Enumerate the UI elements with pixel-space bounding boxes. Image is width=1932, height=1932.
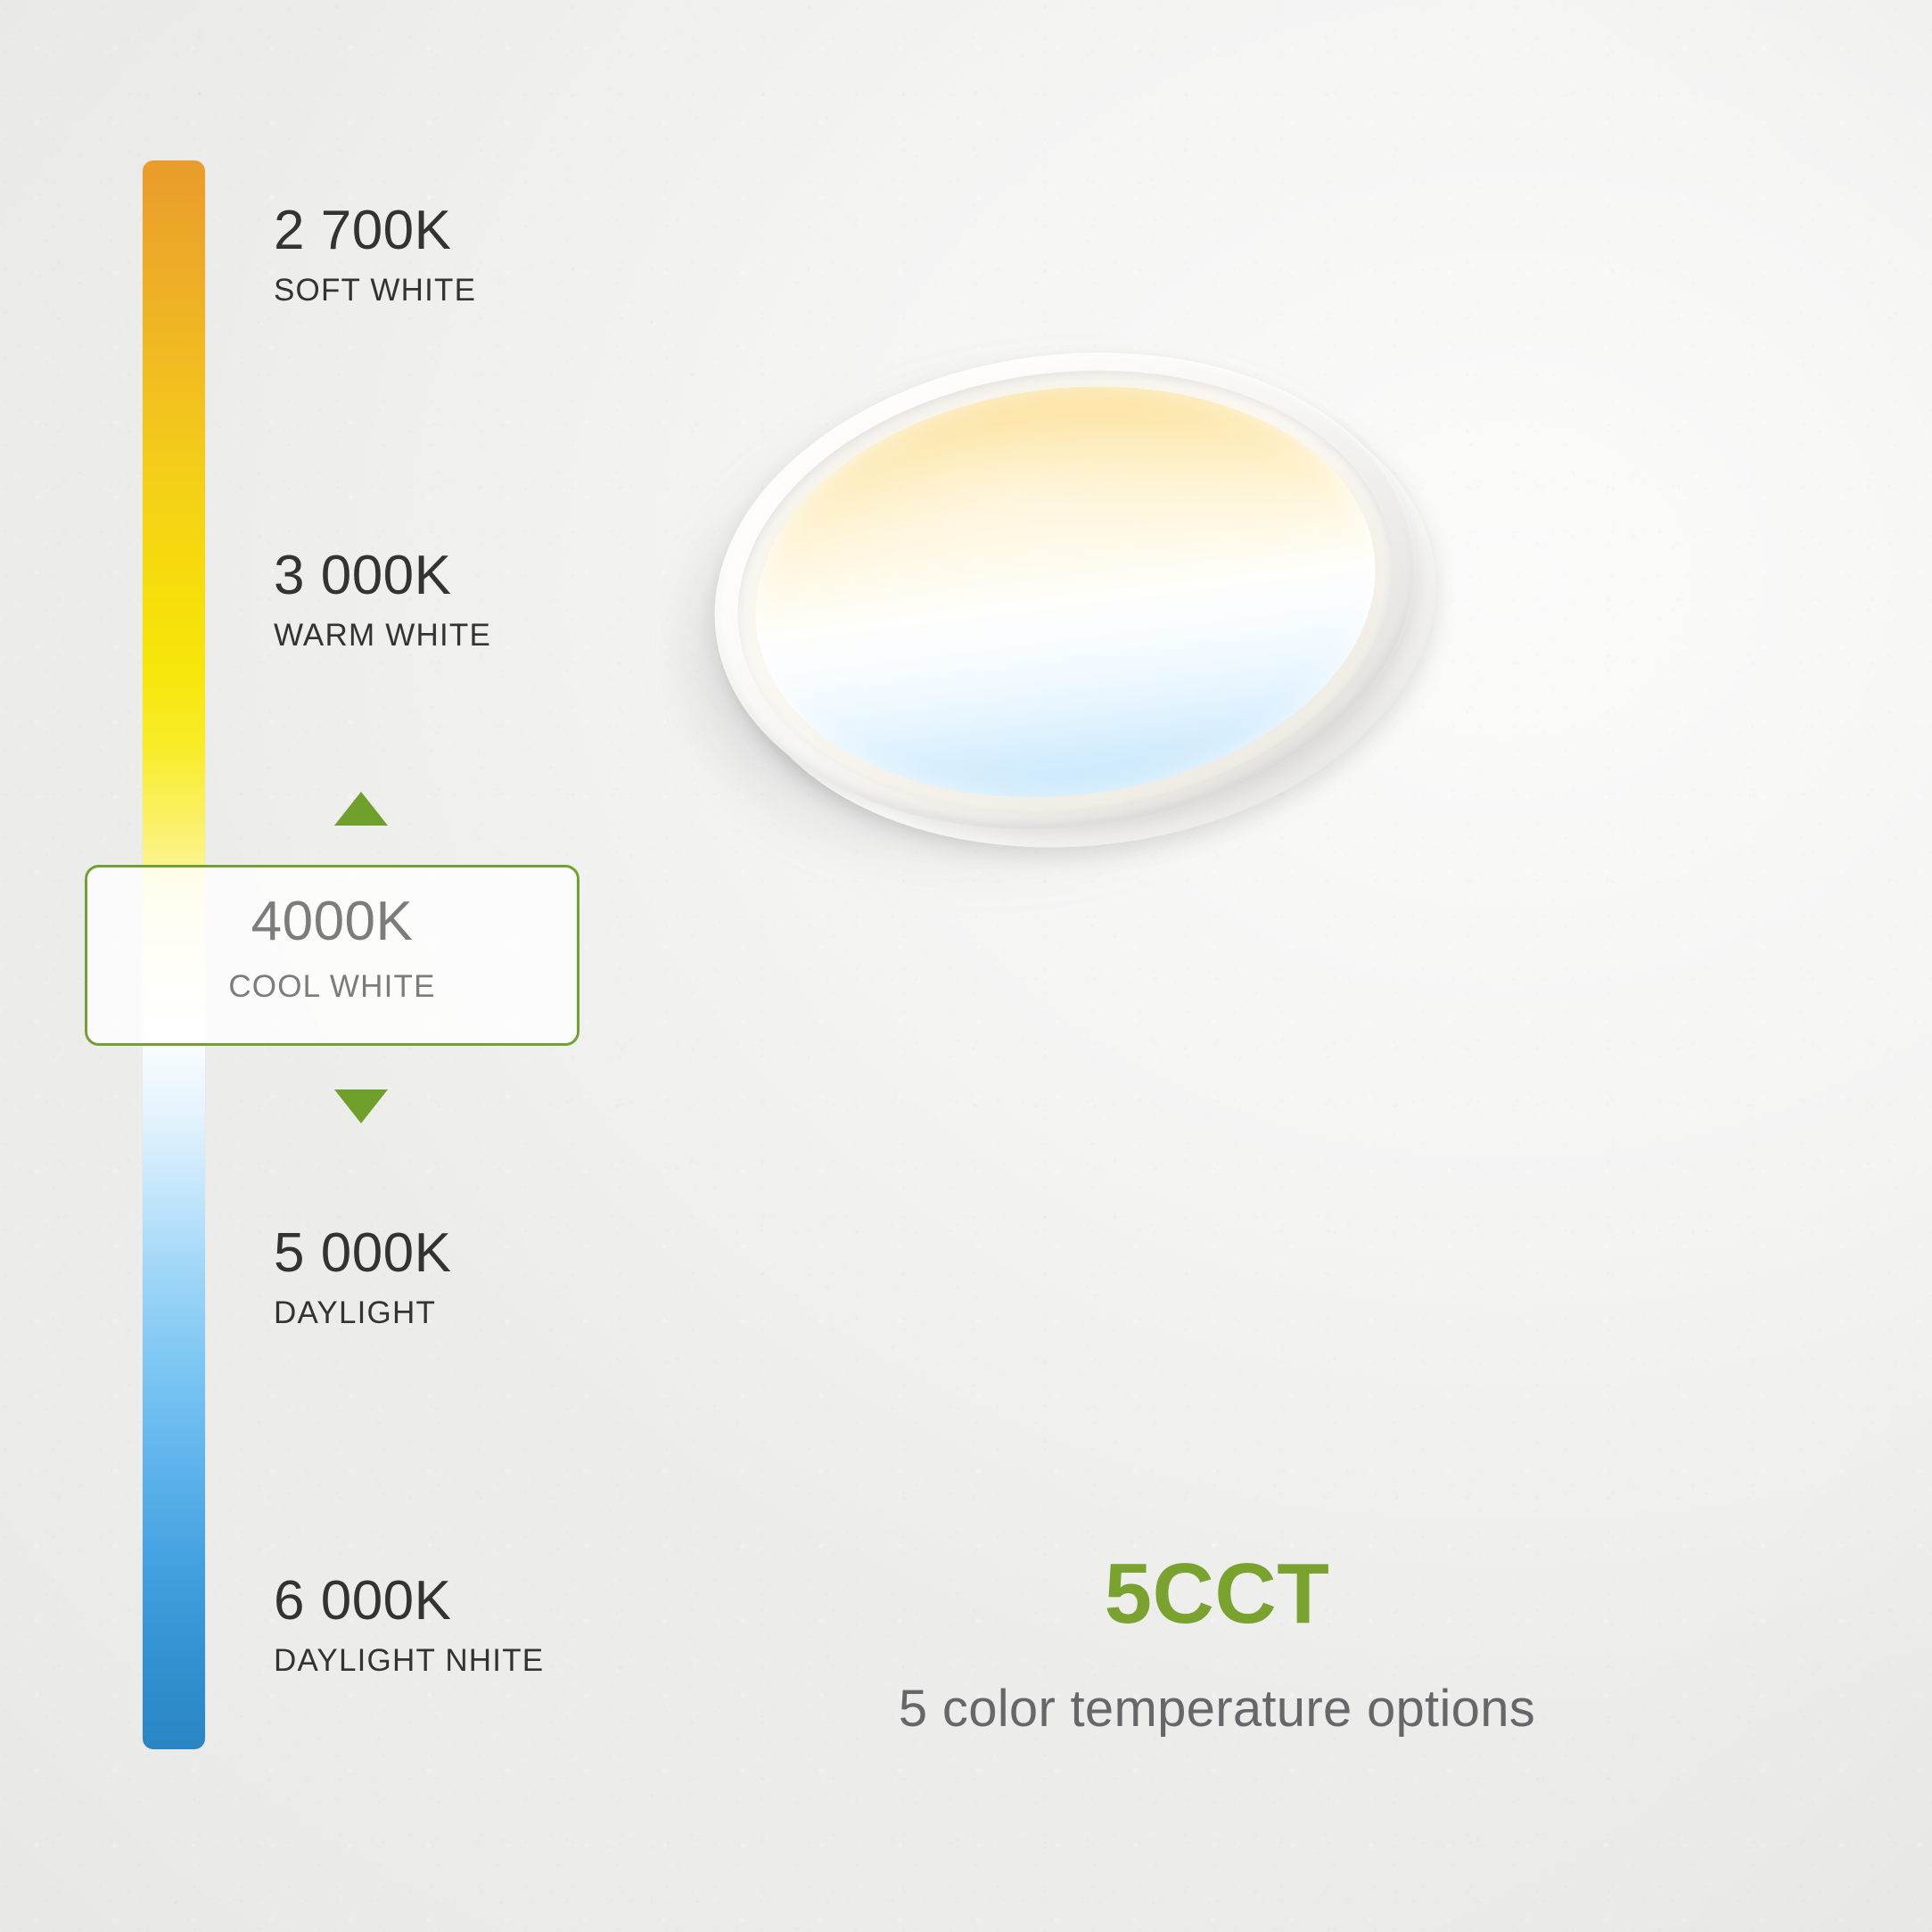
scale-step-name: SOFT WHITE (274, 275, 476, 306)
scale-step-4000k-selected[interactable]: 4000K COOL WHITE (85, 865, 580, 1046)
triangle-down-icon[interactable] (334, 1089, 388, 1123)
scale-step-kelvin: 5 000K (274, 1226, 452, 1281)
scale-step-5000k[interactable]: 5 000K DAYLIGHT (274, 1226, 452, 1328)
scale-step-name: DAYLIGHT NHITE (274, 1645, 544, 1676)
scale-step-kelvin: 3 000K (274, 548, 491, 604)
scale-step-kelvin: 4000K (87, 894, 577, 950)
triangle-up-icon[interactable] (334, 792, 388, 826)
color-temperature-scale-panel: 2 700K SOFT WHITE 3 000K WARM WHITE 4000… (0, 0, 678, 1932)
scale-step-name: WARM WHITE (274, 620, 491, 651)
scale-step-kelvin: 2 700K (274, 203, 476, 259)
caption-subtitle: 5 color temperature options (704, 1683, 1730, 1735)
scale-step-6000k[interactable]: 6 000K DAYLIGHT NHITE (274, 1574, 544, 1676)
scale-step-3000k[interactable]: 3 000K WARM WHITE (274, 548, 491, 651)
scale-step-2700k[interactable]: 2 700K SOFT WHITE (274, 203, 476, 306)
caption-block: 5CCT 5 color temperature options (704, 1551, 1730, 1735)
scale-step-name: DAYLIGHT (274, 1297, 452, 1328)
product-image-ceiling-light (704, 348, 1444, 856)
scale-step-name: COOL WHITE (87, 971, 577, 1002)
scale-step-kelvin: 6 000K (274, 1574, 544, 1629)
caption-title: 5CCT (704, 1551, 1730, 1637)
